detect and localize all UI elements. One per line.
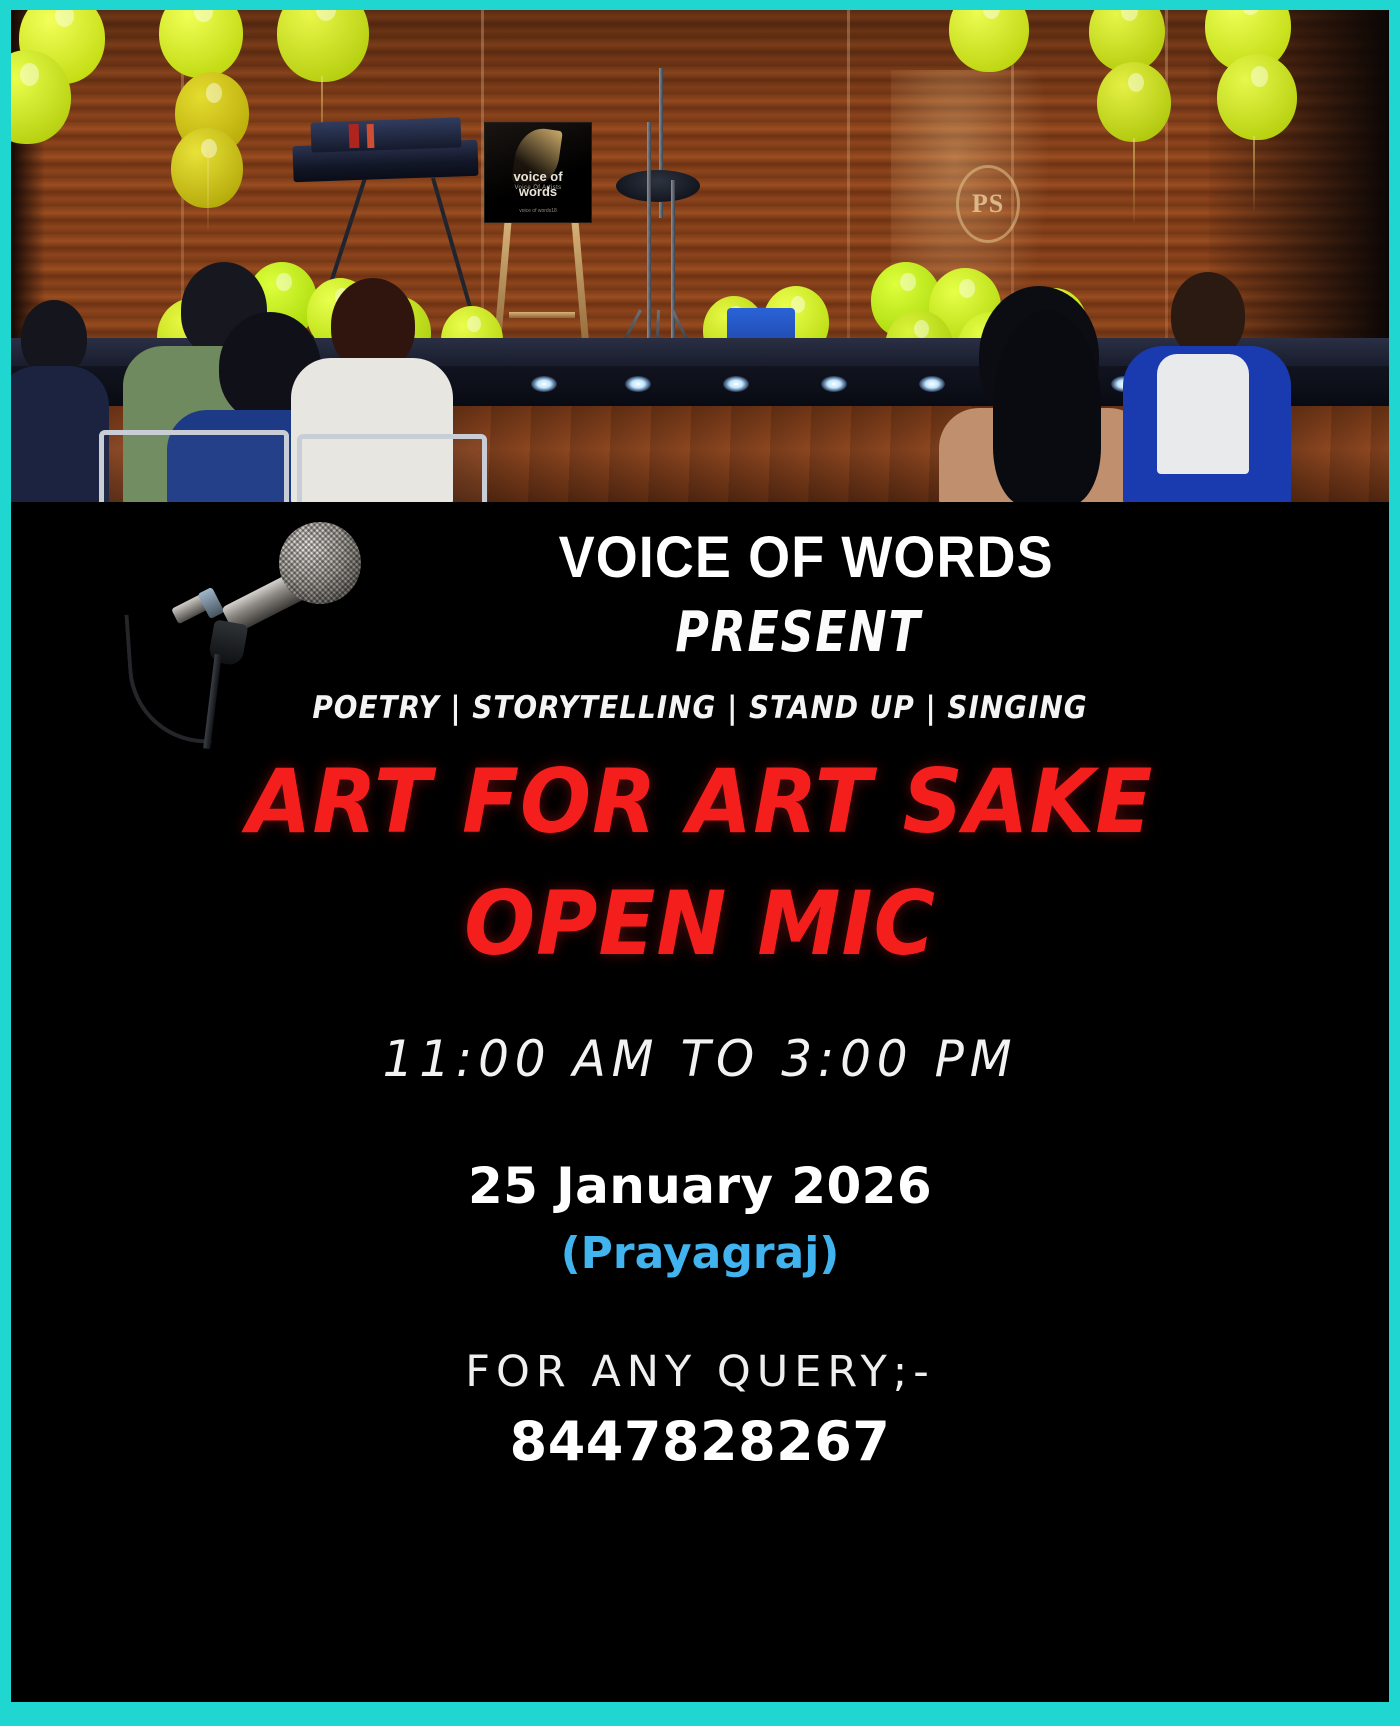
board-handle: voice of words18 xyxy=(493,208,583,214)
event-title-line-2: OPEN MIC xyxy=(45,872,1354,975)
stage-photo: PS xyxy=(11,10,1389,502)
keyboard-accent xyxy=(349,124,360,148)
event-city: (Prayagraj) xyxy=(11,1228,1389,1279)
keyboard-accent xyxy=(367,124,375,148)
audience-body xyxy=(11,366,109,502)
contact-phone[interactable]: 8447828267 xyxy=(11,1410,1389,1473)
poster-inner: PS xyxy=(11,10,1389,1702)
brand-board: voice of words Voice Of Artists voice of… xyxy=(484,122,592,223)
event-date: 25 January 2026 xyxy=(11,1157,1389,1215)
stage-stool xyxy=(616,170,700,202)
stage-light xyxy=(531,376,557,392)
poster-content: VOICE OF WORDS PRESENT POETRY | STORYTEL… xyxy=(11,502,1389,1702)
audience-chair xyxy=(297,434,487,502)
board-subtitle: Voice Of Artists xyxy=(493,185,583,191)
audience-chair xyxy=(99,430,289,502)
easel-crossbar xyxy=(509,312,575,318)
audience-head xyxy=(21,300,87,376)
venue-logo: PS xyxy=(956,165,1020,243)
event-title-line-1: ART FOR ART SAKE xyxy=(45,750,1354,853)
mic-stand-pole xyxy=(671,180,675,352)
balloon-string xyxy=(1253,136,1255,210)
genre-list: POETRY | STORYTELLING | STAND UP | SINGI… xyxy=(80,690,1320,726)
brand-title: VOICE OF WORDS xyxy=(63,524,1389,591)
balloon xyxy=(1097,62,1171,142)
event-time: 11:00 AM TO 3:00 PM xyxy=(32,1030,1369,1088)
stage-light xyxy=(625,376,651,392)
balloon-string xyxy=(207,150,209,230)
stage-light xyxy=(723,376,749,392)
audience-head xyxy=(993,310,1101,502)
stage-light xyxy=(919,376,945,392)
event-poster: PS xyxy=(0,0,1400,1726)
balloon xyxy=(1217,54,1297,140)
stage-light xyxy=(821,376,847,392)
balloon-string xyxy=(1133,138,1135,222)
query-label: FOR ANY QUERY;- xyxy=(11,1347,1389,1397)
present-label: PRESENT xyxy=(145,600,1364,665)
board-title: voice of words xyxy=(493,169,583,199)
keyboard-top-panel xyxy=(311,117,462,152)
mic-stand-pole xyxy=(647,122,651,352)
audience-shirt-highlight xyxy=(1157,354,1249,474)
